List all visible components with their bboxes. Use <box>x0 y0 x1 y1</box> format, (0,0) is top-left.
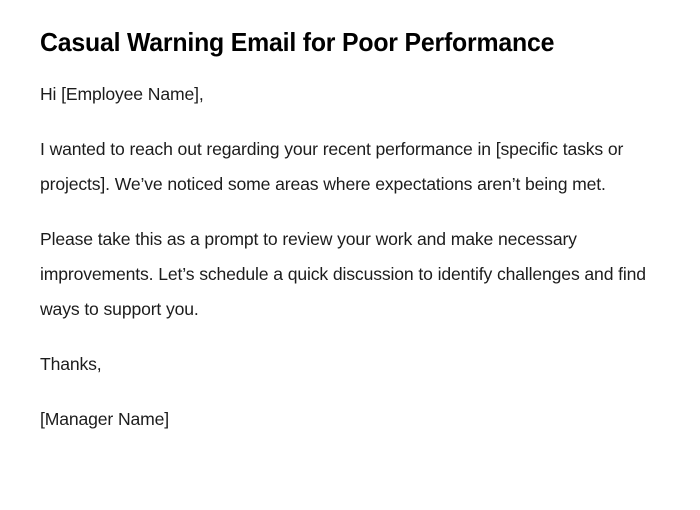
email-template-body: Casual Warning Email for Poor Performanc… <box>40 0 660 437</box>
email-signature: [Manager Name] <box>40 382 660 437</box>
email-greeting: Hi [Employee Name], <box>40 59 660 112</box>
email-signoff: Thanks, <box>40 327 660 382</box>
document-page: Casual Warning Email for Poor Performanc… <box>0 0 700 510</box>
email-paragraph-2: Please take this as a prompt to review y… <box>40 202 660 327</box>
email-paragraph-1: I wanted to reach out regarding your rec… <box>40 112 652 202</box>
page-title: Casual Warning Email for Poor Performanc… <box>40 0 632 59</box>
